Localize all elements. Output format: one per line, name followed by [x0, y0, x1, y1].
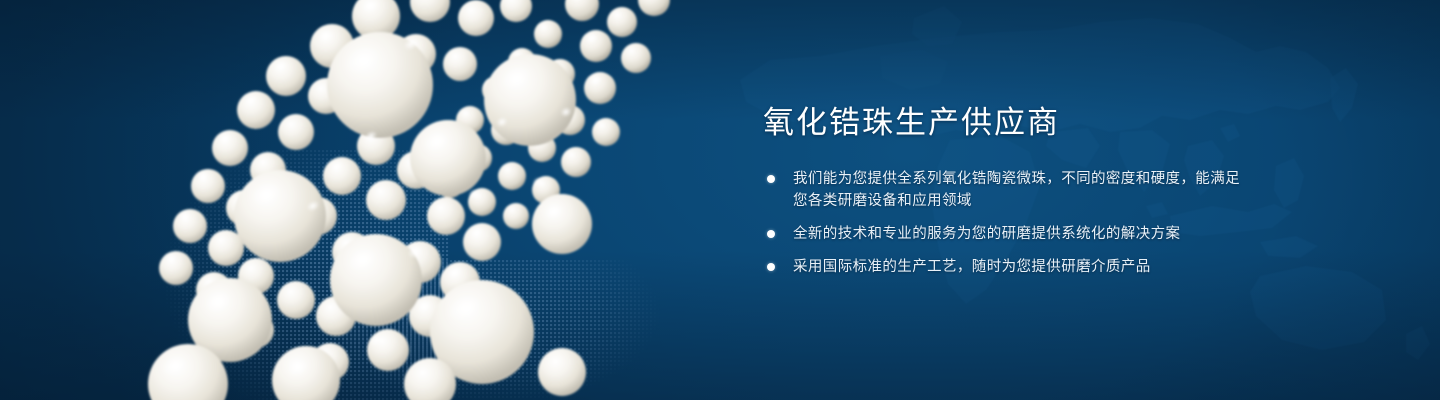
list-item-text: 全新的技术和专业的服务为您的研磨提供系统化的解决方案 — [793, 226, 1180, 242]
list-item-text: 我们能为您提供全系列氧化锆陶瓷微珠，不同的密度和硬度，能满足您各类研磨设备和应用… — [793, 171, 1240, 209]
banner-copy: 氧化锆珠生产供应商 我们能为您提供全系列氧化锆陶瓷微珠，不同的密度和硬度，能满足… — [763, 106, 1243, 278]
bullet-dot-icon — [767, 263, 775, 271]
list-item: 采用国际标准的生产工艺，随时为您提供研磨介质产品 — [763, 256, 1243, 278]
feature-list: 我们能为您提供全系列氧化锆陶瓷微珠，不同的密度和硬度，能满足您各类研磨设备和应用… — [763, 168, 1243, 278]
list-item-text: 采用国际标准的生产工艺，随时为您提供研磨介质产品 — [793, 259, 1151, 275]
list-item: 全新的技术和专业的服务为您的研磨提供系统化的解决方案 — [763, 223, 1243, 245]
bullet-dot-icon — [767, 230, 775, 238]
background-top-shade — [0, 0, 1440, 120]
bullet-dot-icon — [767, 175, 775, 183]
page-title: 氧化锆珠生产供应商 — [763, 106, 1243, 140]
hero-banner: 氧化锆珠生产供应商 我们能为您提供全系列氧化锆陶瓷微珠，不同的密度和硬度，能满足… — [0, 0, 1440, 400]
list-item: 我们能为您提供全系列氧化锆陶瓷微珠，不同的密度和硬度，能满足您各类研磨设备和应用… — [763, 168, 1243, 212]
